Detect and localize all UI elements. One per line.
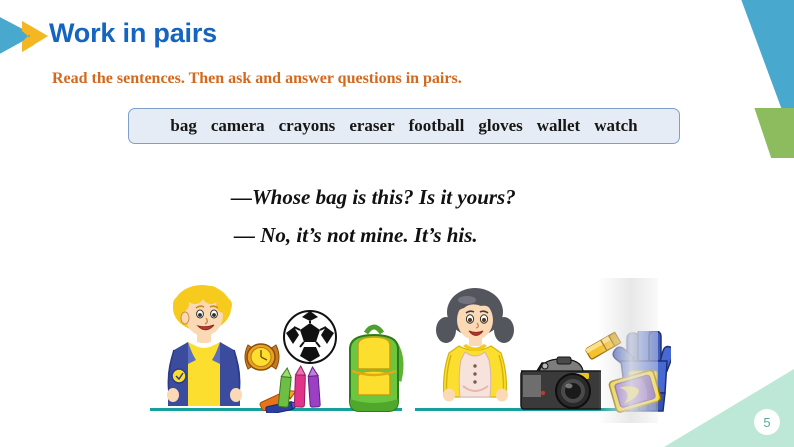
page-number: 5: [754, 409, 780, 435]
word-item[interactable]: wallet: [537, 116, 580, 136]
play-arrow-icon: [0, 11, 52, 61]
illustration-panel-left: [148, 278, 406, 423]
word-item[interactable]: camera: [211, 116, 265, 136]
word-item[interactable]: eraser: [349, 116, 394, 136]
slide-canvas: Work in pairs Read the sentences. Then a…: [0, 0, 794, 447]
word-item[interactable]: gloves: [478, 116, 522, 136]
word-item[interactable]: bag: [170, 116, 196, 136]
dialogue-block: —Whose bag is this? Is it yours? — No, i…: [231, 178, 516, 254]
wallet-illustration: [608, 367, 664, 415]
illustration-panel-right: [413, 278, 658, 423]
illustration-strip: [148, 278, 658, 423]
word-bank-box: bag camera crayons eraser football glove…: [128, 108, 680, 144]
corner-decoration-teal: [700, 0, 794, 112]
dialogue-line-question: —Whose bag is this? Is it yours?: [231, 178, 516, 216]
dialogue-line-answer: — No, it’s not mine. It’s his.: [231, 216, 516, 254]
word-item[interactable]: crayons: [279, 116, 336, 136]
crayons-illustration: [258, 363, 326, 413]
girl-illustration: [427, 286, 523, 410]
word-item[interactable]: football: [409, 116, 465, 136]
corner-decoration-mint: [664, 369, 794, 447]
backpack-illustration: [340, 315, 408, 415]
word-item[interactable]: watch: [594, 116, 637, 136]
instruction-text: Read the sentences. Then ask and answer …: [52, 70, 462, 88]
page-title: Work in pairs: [49, 18, 217, 49]
corner-decoration-green: [734, 108, 794, 158]
soccer-ball-illustration: [282, 309, 338, 365]
